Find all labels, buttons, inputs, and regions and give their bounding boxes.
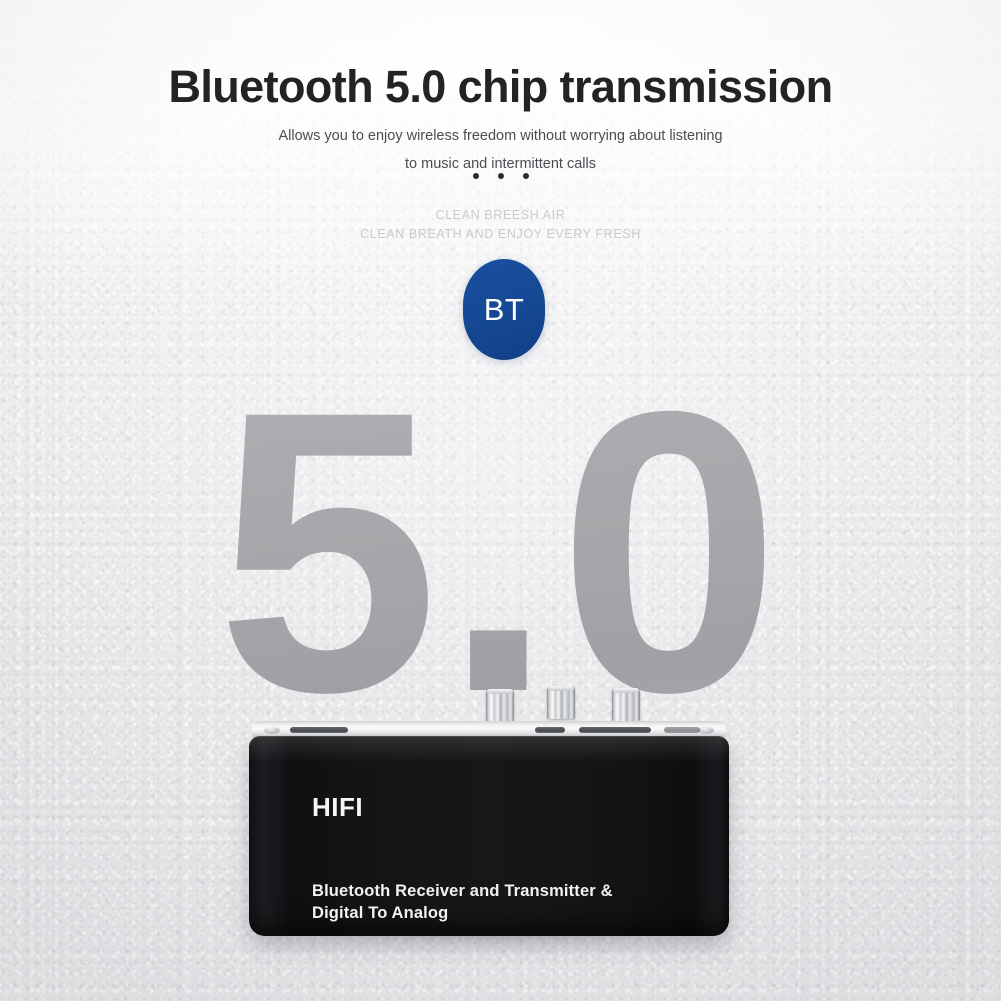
faint-tagline-line-1: CLEAN BREESH AIR [0, 206, 1001, 225]
faint-tagline: CLEAN BREESH AIR CLEAN BREATH AND ENJOY … [0, 206, 1001, 245]
rca-connector-center [547, 686, 575, 719]
top-plate-port [535, 727, 565, 733]
subtitle-line-1: Allows you to enjoy wireless freedom wit… [0, 122, 1001, 150]
divider-dots [0, 173, 1001, 179]
subtitle: Allows you to enjoy wireless freedom wit… [0, 122, 1001, 179]
device-description: Bluetooth Receiver and Transmitter & Dig… [312, 881, 613, 925]
dot-icon [498, 173, 504, 179]
rca-connector-left [486, 689, 514, 722]
device-description-line-2: Digital To Analog [312, 903, 613, 925]
faint-tagline-line-2: CLEAN BREATH AND ENJOY EVERY FRESH [0, 225, 1001, 244]
bluetooth-badge-label: BT [484, 294, 525, 325]
product-banner: 5.0 Bluetooth 5.0 chip transmission Allo… [0, 0, 1001, 1001]
bluetooth-badge: BT [463, 259, 545, 360]
device-chassis: HIFI Bluetooth Receiver and Transmitter … [249, 736, 729, 936]
device-brand-label: HIFI [312, 794, 363, 820]
dot-icon [523, 173, 529, 179]
top-plate-port [579, 727, 651, 733]
page-title: Bluetooth 5.0 chip transmission [0, 63, 1001, 112]
top-plate-port [290, 727, 348, 733]
top-plate-port [664, 727, 700, 733]
top-plate-screw [698, 726, 714, 734]
dot-icon [473, 173, 479, 179]
top-plate-screw [264, 726, 280, 734]
product-device: HIFI Bluetooth Receiver and Transmitter … [249, 700, 729, 938]
device-description-line-1: Bluetooth Receiver and Transmitter & [312, 881, 613, 903]
rca-connector-right [612, 688, 640, 721]
